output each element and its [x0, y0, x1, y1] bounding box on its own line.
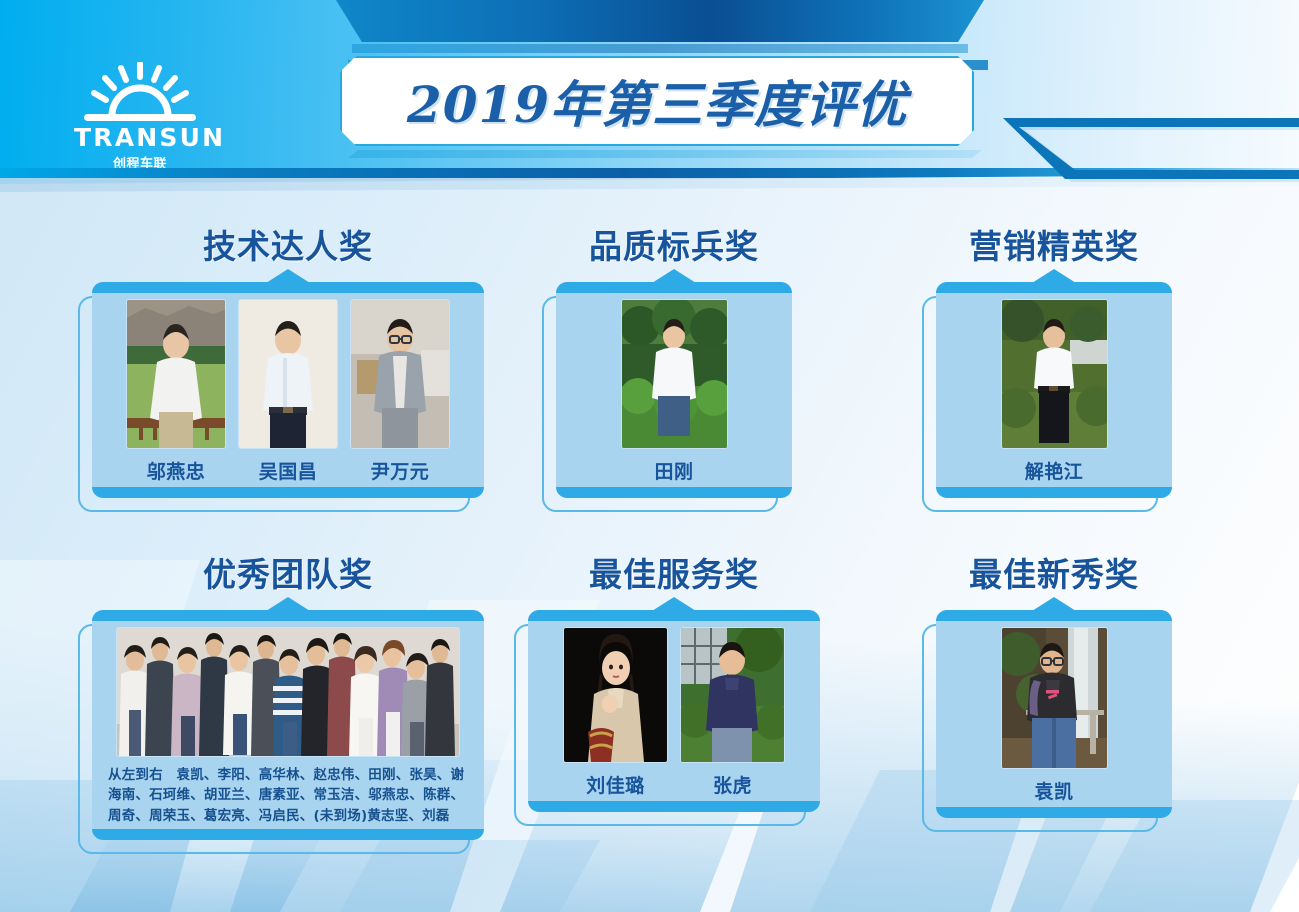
award-title: 技术达人奖 [92, 220, 484, 268]
award-card[interactable]: 刘佳璐 [528, 610, 820, 812]
award-block-marketing-elite: 营销精英奖 [936, 220, 1172, 498]
person-photo [1002, 628, 1107, 768]
person-photo [239, 300, 337, 448]
people-list: 邬燕忠 [108, 300, 468, 484]
person-entry[interactable]: 田刚 [622, 300, 727, 484]
person-name: 吴国昌 [259, 457, 318, 484]
award-block-best-service: 最佳服务奖 [528, 548, 820, 812]
person-name: 田刚 [654, 457, 693, 484]
card-notch-icon [652, 269, 696, 283]
award-title: 最佳服务奖 [528, 548, 820, 596]
card-notch-icon [266, 597, 310, 611]
award-card[interactable]: 袁凯 [936, 610, 1172, 818]
people-list: 田刚 [572, 300, 776, 484]
person-photo [1002, 300, 1107, 448]
person-name: 解艳江 [1025, 457, 1084, 484]
award-title: 营销精英奖 [936, 220, 1172, 268]
award-card[interactable]: 田刚 [556, 282, 792, 498]
award-grid: 技术达人奖 [0, 196, 1299, 876]
page-header: TRANSUN 创程车联 2019年第三季度评优 [0, 0, 1299, 178]
person-entry[interactable] [117, 628, 459, 756]
chevron-decoration [999, 118, 1299, 188]
person-photo [622, 300, 727, 448]
team-photo [117, 628, 459, 756]
person-photo [681, 628, 784, 762]
people-list: 袁凯 [952, 628, 1156, 804]
award-block-excellent-team: 优秀团队奖 [92, 548, 484, 840]
title-plaque: 2019年第三季度评优 [340, 56, 974, 146]
person-entry[interactable]: 尹万元 [351, 300, 449, 484]
person-name: 张虎 [713, 771, 752, 798]
person-entry[interactable]: 解艳江 [1002, 300, 1107, 484]
title-plaque-shadow [348, 150, 982, 158]
people-list [108, 628, 468, 756]
person-entry[interactable]: 袁凯 [1002, 628, 1107, 804]
award-poster: TRANSUN 创程车联 2019年第三季度评优 技术达人奖 [0, 0, 1299, 912]
award-block-quality-pacesetter: 品质标兵奖 [556, 220, 792, 498]
person-entry[interactable]: 张虎 [681, 628, 784, 798]
award-card[interactable]: 从左到右 袁凯、李阳、高华林、赵忠伟、田刚、张昊、谢海南、石珂维、胡亚兰、唐素亚… [92, 610, 484, 840]
people-list: 刘佳璐 [544, 628, 804, 798]
person-name: 袁凯 [1034, 777, 1073, 804]
team-caption: 从左到右 袁凯、李阳、高华林、赵忠伟、田刚、张昊、谢海南、石珂维、胡亚兰、唐素亚… [108, 765, 468, 826]
award-block-tech-expert: 技术达人奖 [92, 220, 484, 498]
person-name: 刘佳璐 [586, 771, 645, 798]
person-entry[interactable]: 刘佳璐 [564, 628, 667, 798]
sunrise-icon [74, 62, 206, 124]
people-list: 解艳江 [952, 300, 1156, 484]
card-notch-icon [266, 269, 310, 283]
header-flag-shape [336, 0, 984, 42]
person-entry[interactable]: 吴国昌 [239, 300, 337, 484]
award-card[interactable]: 邬燕忠 [92, 282, 484, 498]
page-title: 2019年第三季度评优 [407, 65, 907, 137]
header-flag-shadow [352, 44, 968, 53]
brand-name: TRANSUN [74, 125, 206, 150]
card-notch-icon [652, 597, 696, 611]
card-notch-icon [1032, 269, 1076, 283]
person-name: 尹万元 [371, 457, 430, 484]
award-title: 品质标兵奖 [556, 220, 792, 268]
person-photo [127, 300, 225, 448]
person-photo [564, 628, 667, 762]
person-name: 邬燕忠 [147, 457, 206, 484]
brand-logo: TRANSUN 创程车联 [74, 62, 206, 166]
award-title: 优秀团队奖 [92, 548, 484, 596]
award-card[interactable]: 解艳江 [936, 282, 1172, 498]
person-photo [351, 300, 449, 448]
card-notch-icon [1032, 597, 1076, 611]
award-block-best-newcomer: 最佳新秀奖 [936, 548, 1172, 818]
award-title: 最佳新秀奖 [936, 548, 1172, 596]
person-entry[interactable]: 邬燕忠 [127, 300, 225, 484]
